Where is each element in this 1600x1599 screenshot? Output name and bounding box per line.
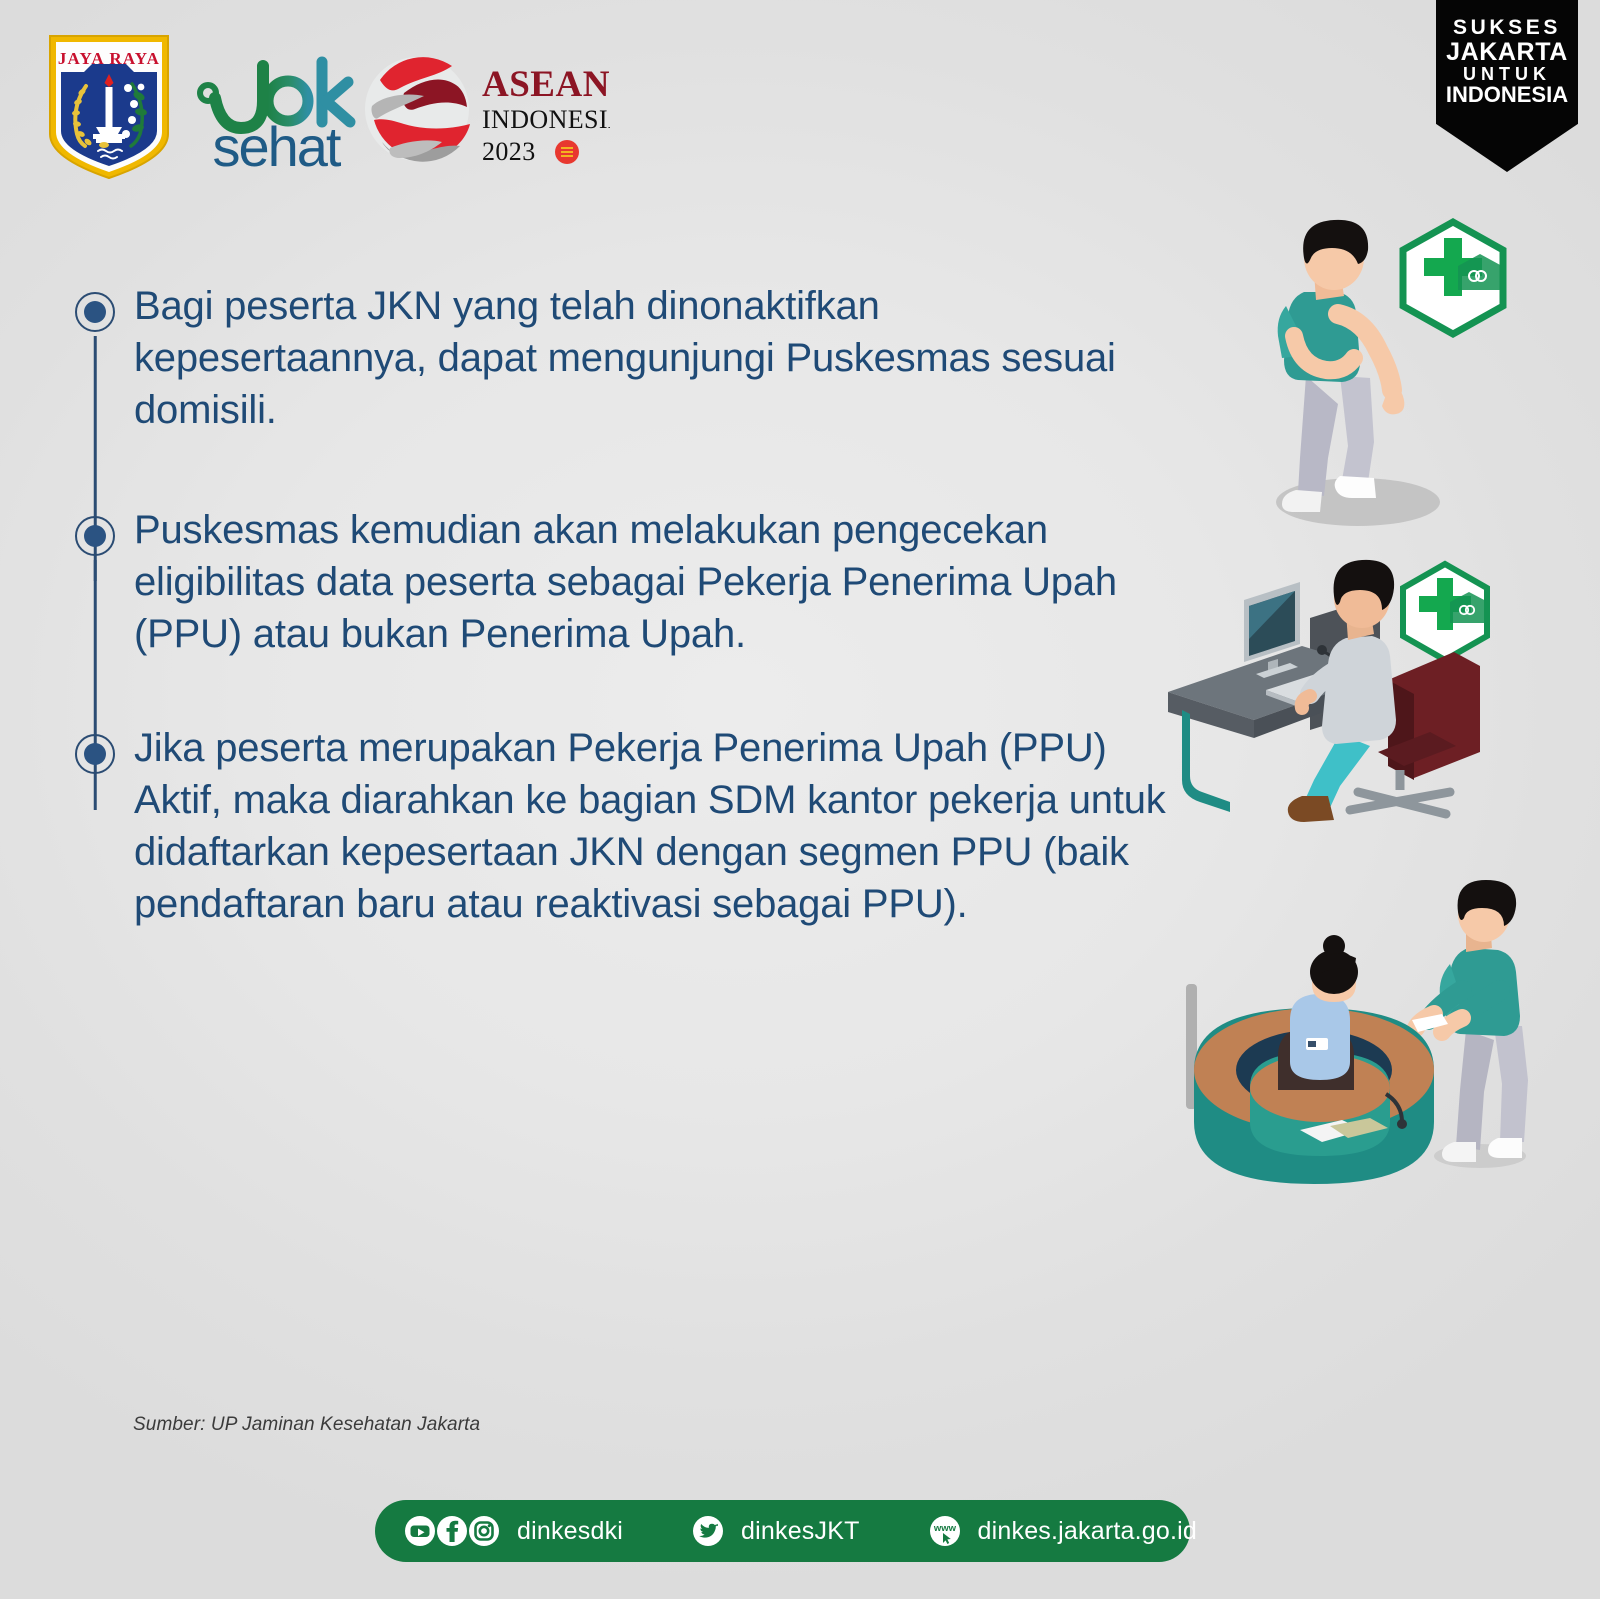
- step-text-1: Bagi peserta JKN yang telah dinonaktifka…: [124, 280, 1180, 436]
- puskesmas-hexagon-icon: [1403, 564, 1488, 660]
- jak-sehat-logo: sehat: [196, 52, 356, 176]
- infographic-page: JAYA RAYA: [0, 0, 1600, 1599]
- footer-label-dinkesdki[interactable]: dinkesdki: [517, 1517, 623, 1546]
- step-item-2: Puskesmas kemudian akan melakukan pengec…: [66, 504, 1180, 660]
- badge-line-untuk: UNTUK: [1463, 65, 1551, 84]
- step-item-3: Jika peserta merupakan Pekerja Penerima …: [66, 722, 1180, 930]
- badge-line-sukses: SUKSES: [1453, 17, 1561, 39]
- step-marker-column-1: [66, 280, 124, 332]
- footer-label-website[interactable]: dinkes.jakarta.go.id: [978, 1517, 1197, 1546]
- dki-jakarta-coat-of-arms-icon: JAYA RAYA: [44, 30, 174, 182]
- footer-group-social[interactable]: dinkesdki: [403, 1514, 623, 1548]
- footer-group-website[interactable]: www dinkes.jakarta.go.id: [928, 1514, 1197, 1548]
- footer-contact-bar: dinkesdki dinkesJKT www dinkes.jakar: [375, 1500, 1190, 1562]
- svg-text:sehat: sehat: [213, 115, 342, 176]
- source-label: Sumber: UP Jaminan Kesehatan Jakarta: [133, 1414, 480, 1436]
- step-item-1: Bagi peserta JKN yang telah dinonaktifka…: [66, 280, 1180, 436]
- badge-line-jakarta: JAKARTA: [1446, 39, 1568, 65]
- step-bullet-icon-1: [75, 292, 115, 332]
- asean-indonesia-2023-logo: ASEAN INDONESIA 2023: [360, 48, 610, 170]
- svg-text:2023: 2023: [482, 137, 536, 166]
- steps-list: Bagi peserta JKN yang telah dinonaktifka…: [0, 280, 1180, 930]
- youtube-icon[interactable]: [403, 1514, 437, 1548]
- puskesmas-hexagon-icon: [1403, 222, 1503, 334]
- sukses-jakarta-untuk-indonesia-badge: SUKSES JAKARTA UNTUK INDONESIA: [1436, 0, 1578, 172]
- step-bullet-icon-2: [75, 516, 115, 556]
- instagram-icon[interactable]: [467, 1514, 501, 1548]
- www-globe-icon[interactable]: www: [928, 1514, 962, 1548]
- footer-label-dinkesjkt[interactable]: dinkesJKT: [741, 1517, 860, 1546]
- illustration-reception-desk: [1150, 880, 1590, 1220]
- svg-text:ASEAN: ASEAN: [482, 64, 610, 105]
- twitter-icon[interactable]: [691, 1514, 725, 1548]
- step-text-2: Puskesmas kemudian akan melakukan pengec…: [124, 504, 1180, 660]
- step-text-3: Jika peserta merupakan Pekerja Penerima …: [124, 722, 1180, 930]
- step-bullet-icon-3: [75, 734, 115, 774]
- badge-line-indonesia: INDONESIA: [1446, 84, 1568, 107]
- footer-group-twitter[interactable]: dinkesJKT: [691, 1514, 860, 1548]
- facebook-icon[interactable]: [435, 1514, 469, 1548]
- header: JAYA RAYA: [0, 0, 1600, 200]
- svg-text:INDONESIA: INDONESIA: [482, 105, 610, 134]
- svg-text:www: www: [932, 1523, 956, 1534]
- illustration-person-holding-arm: [1218, 214, 1588, 544]
- illustration-officer-at-desk: [1150, 558, 1590, 828]
